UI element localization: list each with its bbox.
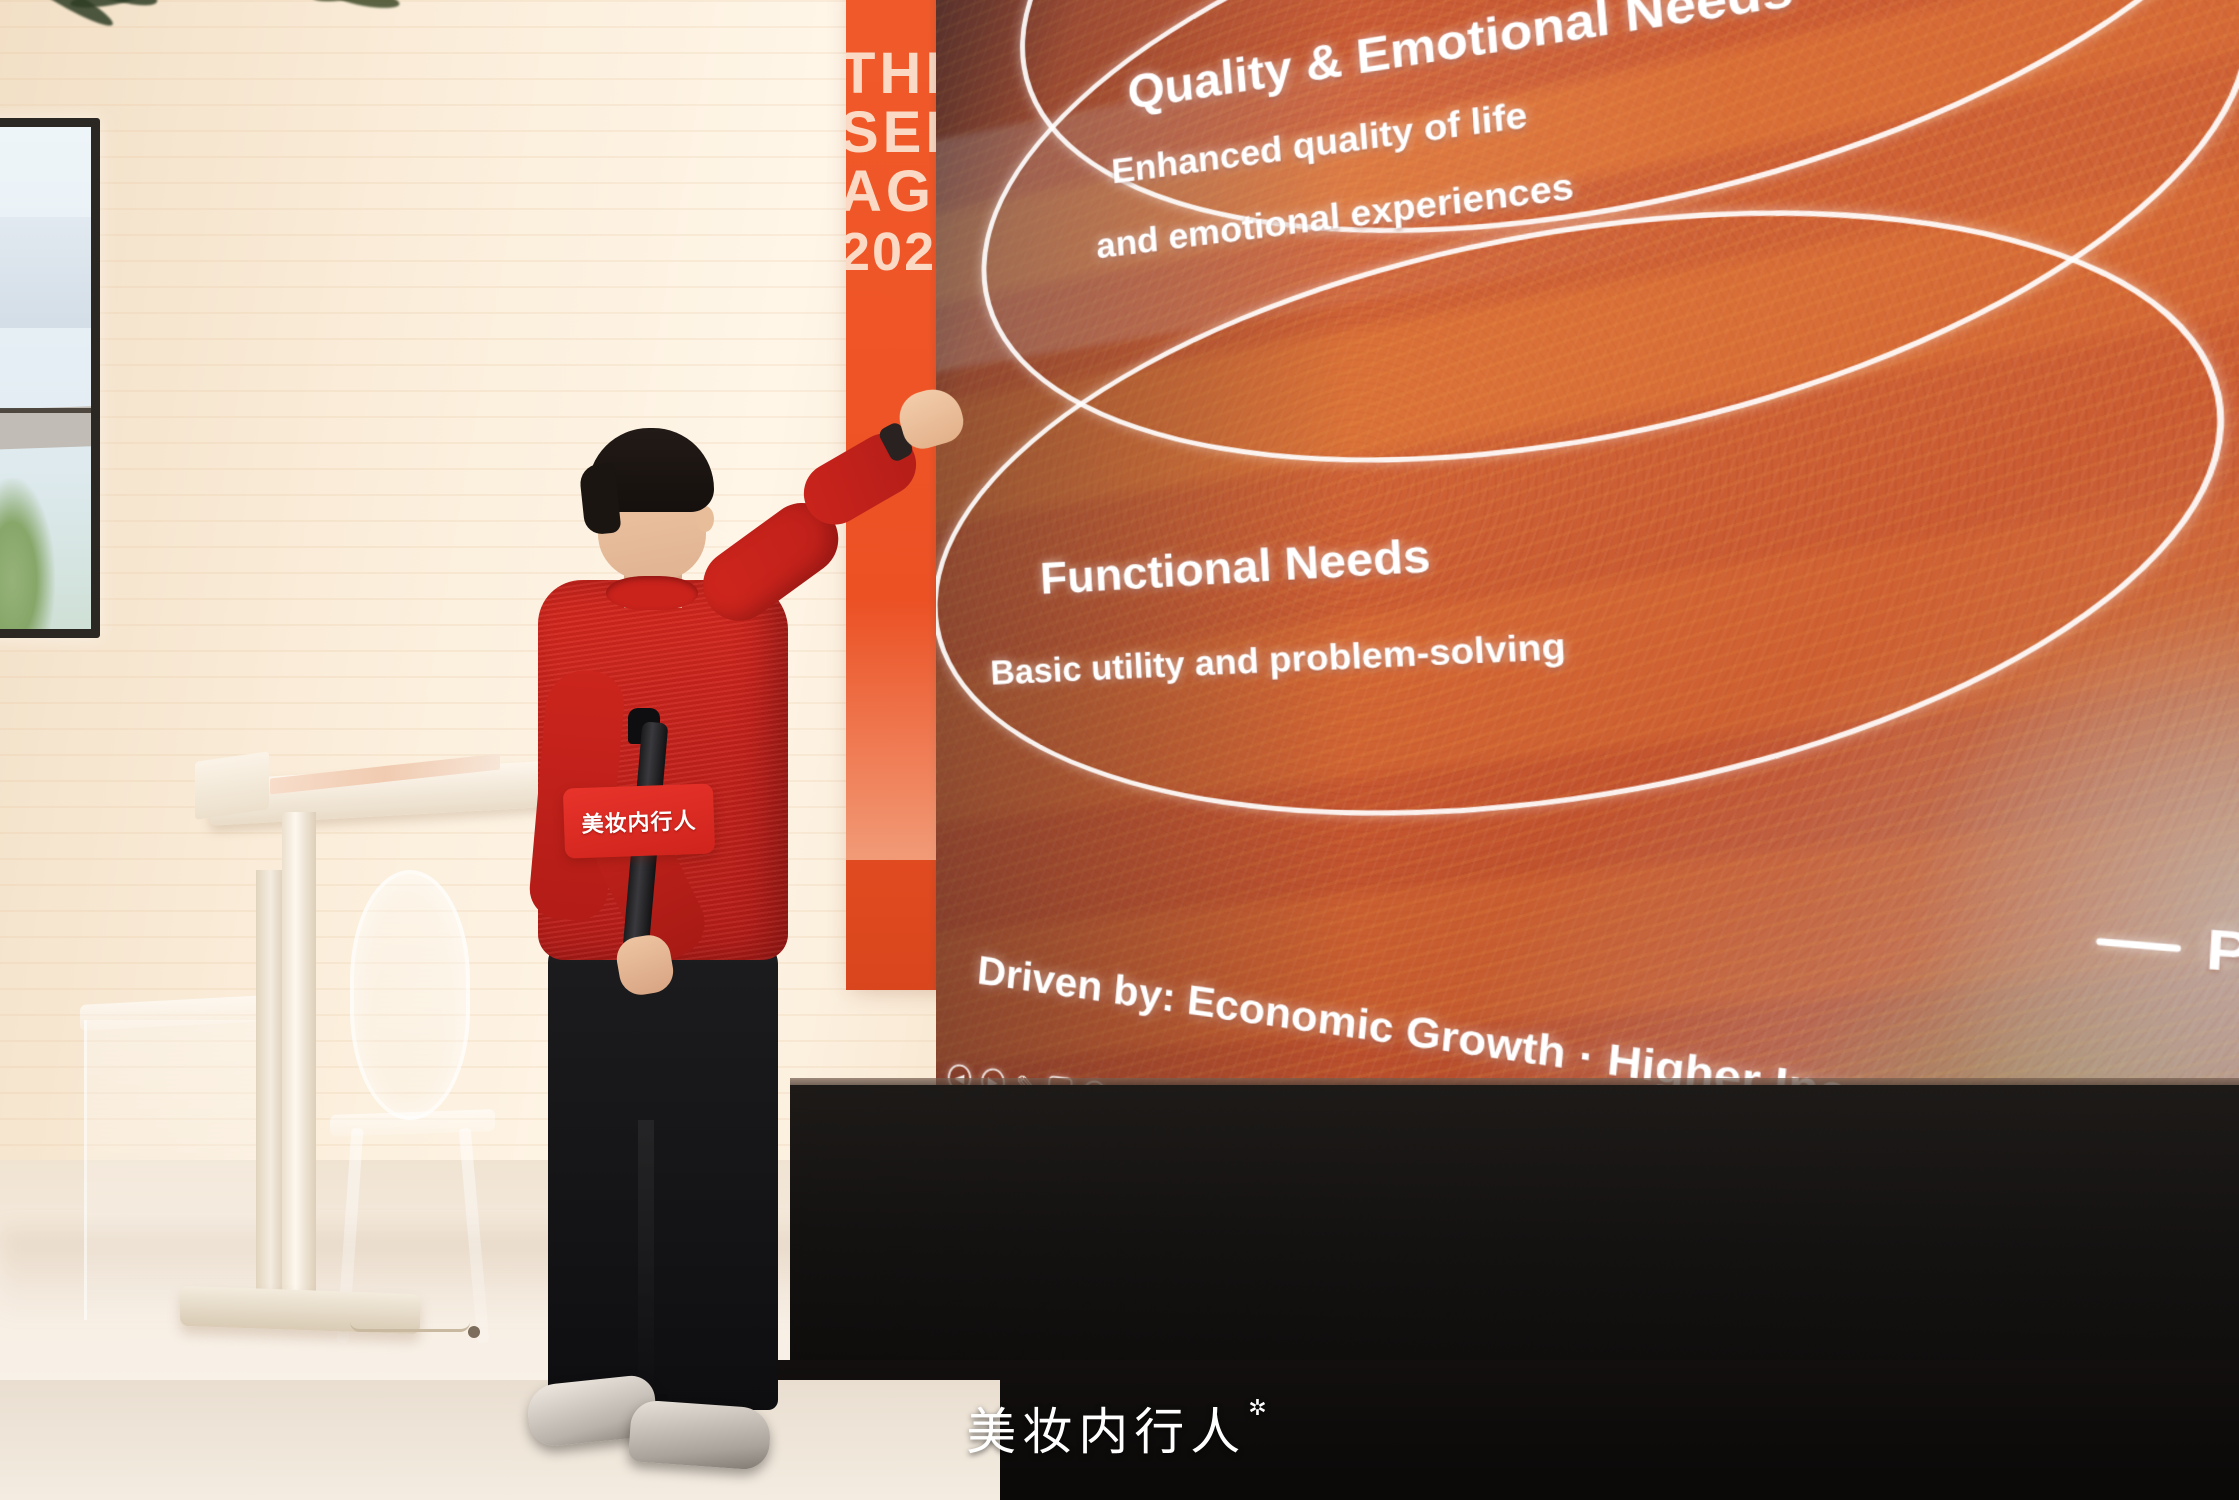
lectern — [200, 770, 560, 1470]
speaker-shoe-right — [628, 1399, 772, 1471]
window — [0, 118, 100, 638]
ceiling-plant-icon — [10, 0, 240, 60]
speaker-trousers — [548, 940, 778, 1410]
watermark-text: 美妆内行人 — [966, 1392, 1246, 1464]
lectern-cable-end — [468, 1326, 480, 1338]
ceiling-plant-secondary-icon — [300, 0, 420, 32]
microphone-flag: 美妆内行人 — [563, 783, 715, 858]
lectern-lip — [195, 751, 269, 820]
lectern-top — [210, 760, 560, 826]
microphone-flag-text: 美妆内行人 — [581, 803, 697, 839]
watermark-star-icon: ✲ — [1248, 1396, 1272, 1421]
speaker-leg-divide — [638, 1120, 654, 1410]
window-building — [0, 217, 91, 327]
speaker-collar — [606, 576, 698, 610]
speaker-person: 美妆内行人 — [520, 420, 940, 1500]
speaker-hair-side — [578, 462, 621, 535]
photo-scene: THE SEN AGE 2020 Quality & Emotional Nee… — [0, 0, 2239, 1500]
lectern-cable — [350, 1322, 470, 1332]
lectern-stem — [282, 812, 316, 1302]
window-mullion — [0, 408, 91, 413]
label-dash-icon — [2096, 937, 2181, 951]
window-tree — [0, 478, 55, 638]
watermark: 美妆内行人 ✲ — [966, 1392, 1272, 1464]
